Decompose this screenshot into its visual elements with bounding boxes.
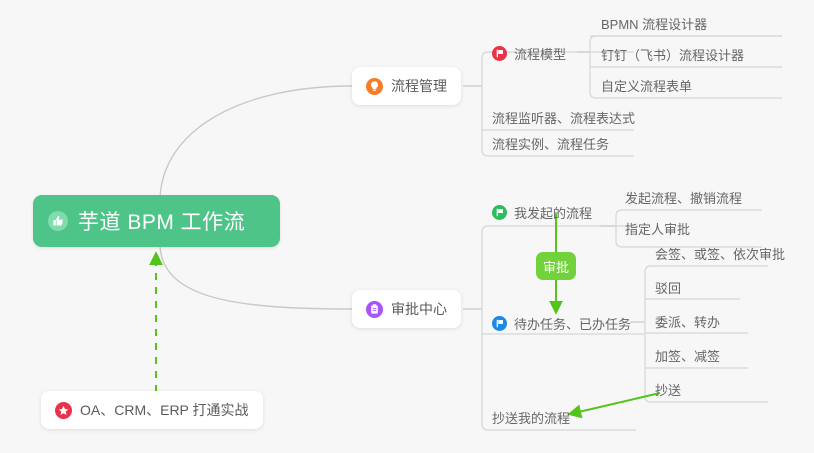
carbon-copy-arrow (570, 393, 660, 414)
branch-node-process-management[interactable]: 流程管理 (352, 67, 461, 105)
label-dingtalk-feishu-designer: 钉钉（飞书）流程设计器 (601, 45, 744, 64)
label-process-model: 流程模型 (514, 44, 566, 63)
node-instance-task[interactable]: 流程实例、流程任务 (492, 130, 609, 156)
label-carbon-copy: 抄送 (655, 380, 681, 399)
footnote-node-oa-crm-erp[interactable]: OA、CRM、ERP 打通实战 (41, 391, 263, 429)
node-process-model[interactable]: 流程模型 (492, 40, 566, 66)
node-countersign-or-sequential[interactable]: 会签、或签、依次审批 (655, 240, 785, 266)
label-add-remove-sign: 加签、减签 (655, 346, 720, 365)
label-listener-expression: 流程监听器、流程表达式 (492, 108, 635, 127)
label-delegate-transfer: 委派、转办 (655, 312, 720, 331)
node-todo-done-tasks[interactable]: 待办任务、已办任务 (492, 310, 631, 336)
label-my-initiated: 我发起的流程 (514, 203, 592, 222)
flag-icon (492, 46, 507, 61)
thumbs-up-icon (47, 210, 69, 232)
node-dingtalk-feishu-designer[interactable]: 钉钉（飞书）流程设计器 (601, 41, 744, 67)
footnote-label: OA、CRM、ERP 打通实战 (80, 400, 249, 420)
node-bpmn-designer[interactable]: BPMN 流程设计器 (601, 10, 707, 36)
root-label: 芋道 BPM 工作流 (78, 206, 245, 236)
lightbulb-icon (366, 78, 383, 95)
node-reject[interactable]: 驳回 (655, 274, 681, 300)
node-add-remove-sign[interactable]: 加签、减签 (655, 342, 720, 368)
star-icon (55, 402, 72, 419)
wire-root-to-process-management (160, 86, 352, 198)
node-assignee-approval[interactable]: 指定人审批 (625, 215, 690, 241)
label-bpmn-designer: BPMN 流程设计器 (601, 14, 707, 33)
branch-label-approval-center: 审批中心 (391, 299, 447, 319)
label-reject: 驳回 (655, 278, 681, 297)
flag-icon (492, 316, 507, 331)
approve-badge[interactable]: 审批 (536, 252, 576, 280)
node-carbon-copy[interactable]: 抄送 (655, 376, 681, 402)
mindmap-canvas: 芋道 BPM 工作流 流程管理 流程模型 BPMN 流程设计器 钉钉（飞书）流程… (0, 0, 814, 453)
flag-icon (492, 205, 507, 220)
label-todo-done-tasks: 待办任务、已办任务 (514, 314, 631, 333)
label-assignee-approval: 指定人审批 (625, 219, 690, 238)
node-cc-to-me[interactable]: 抄送我的流程 (492, 404, 570, 430)
wire-root-to-approval-center (160, 246, 352, 309)
approve-badge-label: 审批 (543, 257, 569, 276)
node-listener-expression[interactable]: 流程监听器、流程表达式 (492, 104, 635, 130)
label-instance-task: 流程实例、流程任务 (492, 134, 609, 153)
node-custom-process-form[interactable]: 自定义流程表单 (601, 72, 692, 98)
label-countersign-or-sequential: 会签、或签、依次审批 (655, 244, 785, 263)
clipboard-icon (366, 301, 383, 318)
label-cc-to-me: 抄送我的流程 (492, 408, 570, 427)
node-start-cancel-process[interactable]: 发起流程、撤销流程 (625, 184, 742, 210)
label-custom-process-form: 自定义流程表单 (601, 76, 692, 95)
root-node[interactable]: 芋道 BPM 工作流 (33, 195, 280, 247)
node-delegate-transfer[interactable]: 委派、转办 (655, 308, 720, 334)
node-my-initiated[interactable]: 我发起的流程 (492, 199, 592, 225)
branch-label-process-management: 流程管理 (391, 76, 447, 96)
branch-node-approval-center[interactable]: 审批中心 (352, 290, 461, 328)
label-start-cancel-process: 发起流程、撤销流程 (625, 188, 742, 207)
